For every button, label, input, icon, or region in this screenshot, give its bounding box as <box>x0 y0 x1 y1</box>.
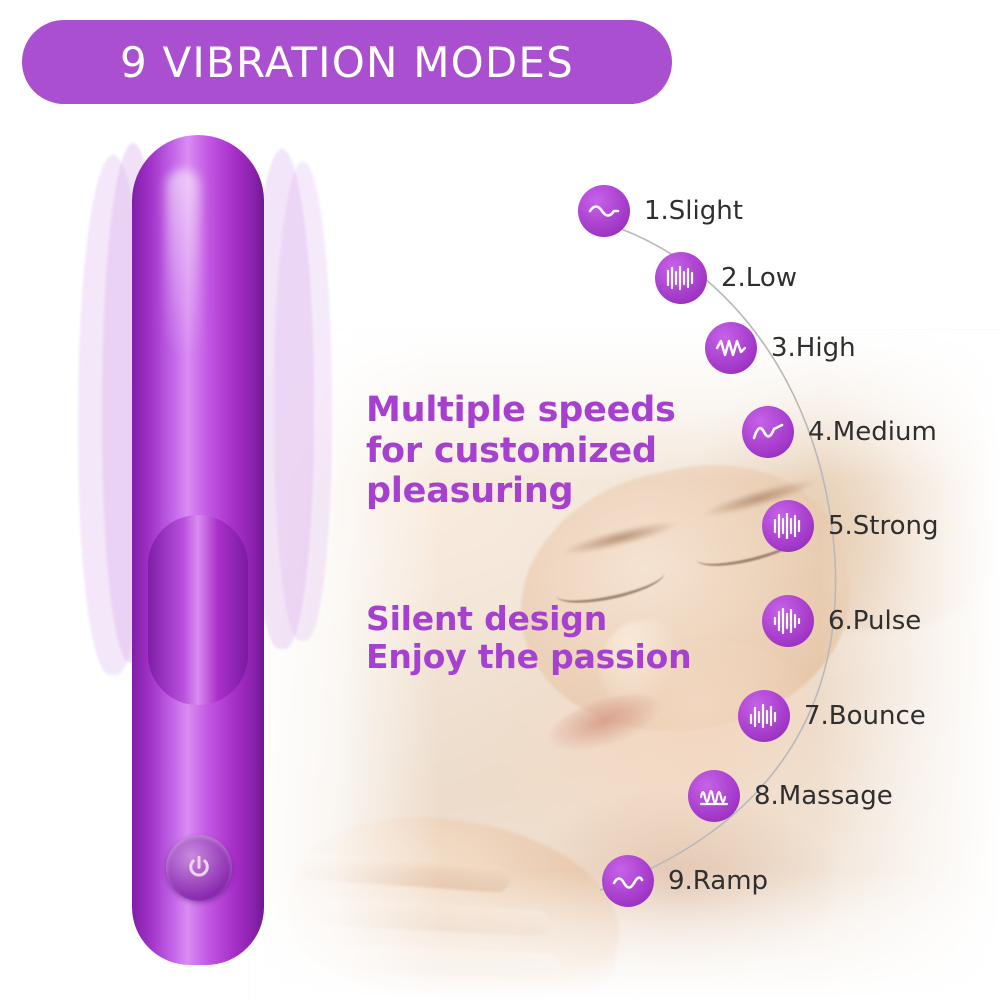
mode-label-9: 9.Ramp <box>668 866 768 896</box>
wave-massage-icon <box>688 770 740 822</box>
modes-list: 1.Slight 2.Low 3.High 4 <box>540 170 1000 930</box>
wave-pulse-icon <box>762 595 814 647</box>
mode-label-6: 6.Pulse <box>828 606 921 636</box>
mode-label-8: 8.Massage <box>754 781 893 811</box>
wave-ramp-icon <box>602 855 654 907</box>
mode-item-6[interactable]: 6.Pulse <box>762 595 921 647</box>
power-icon <box>184 853 214 883</box>
mode-item-8[interactable]: 8.Massage <box>688 770 893 822</box>
mode-label-5: 5.Strong <box>828 511 939 541</box>
power-button[interactable] <box>166 835 232 901</box>
mode-label-4: 4.Medium <box>808 417 937 447</box>
device-highlight <box>166 169 200 359</box>
banner-pill: 9 VIBRATION MODES <box>22 20 672 104</box>
mode-label-2: 2.Low <box>721 263 797 293</box>
product-image <box>60 115 370 985</box>
wave-slight-icon <box>578 185 630 237</box>
mode-item-7[interactable]: 7.Bounce <box>738 690 926 742</box>
wave-bounce-icon <box>738 690 790 742</box>
wave-high-icon <box>705 322 757 374</box>
wave-low-icon <box>655 252 707 304</box>
banner-title: 9 VIBRATION MODES <box>120 38 574 87</box>
mode-item-9[interactable]: 9.Ramp <box>602 855 768 907</box>
wave-medium-icon <box>742 406 794 458</box>
mode-item-3[interactable]: 3.High <box>705 322 856 374</box>
mode-label-1: 1.Slight <box>644 196 743 226</box>
device-body <box>132 135 264 965</box>
device-neck <box>148 515 248 705</box>
mode-item-4[interactable]: 4.Medium <box>742 406 937 458</box>
wave-strong-icon <box>762 500 814 552</box>
mode-label-3: 3.High <box>771 333 856 363</box>
mode-item-1[interactable]: 1.Slight <box>578 185 743 237</box>
mode-item-2[interactable]: 2.Low <box>655 252 797 304</box>
mode-item-5[interactable]: 5.Strong <box>762 500 939 552</box>
product-infographic: 9 VIBRATION MODES Multiple speeds for cu… <box>0 0 1000 1000</box>
mode-label-7: 7.Bounce <box>804 701 926 731</box>
